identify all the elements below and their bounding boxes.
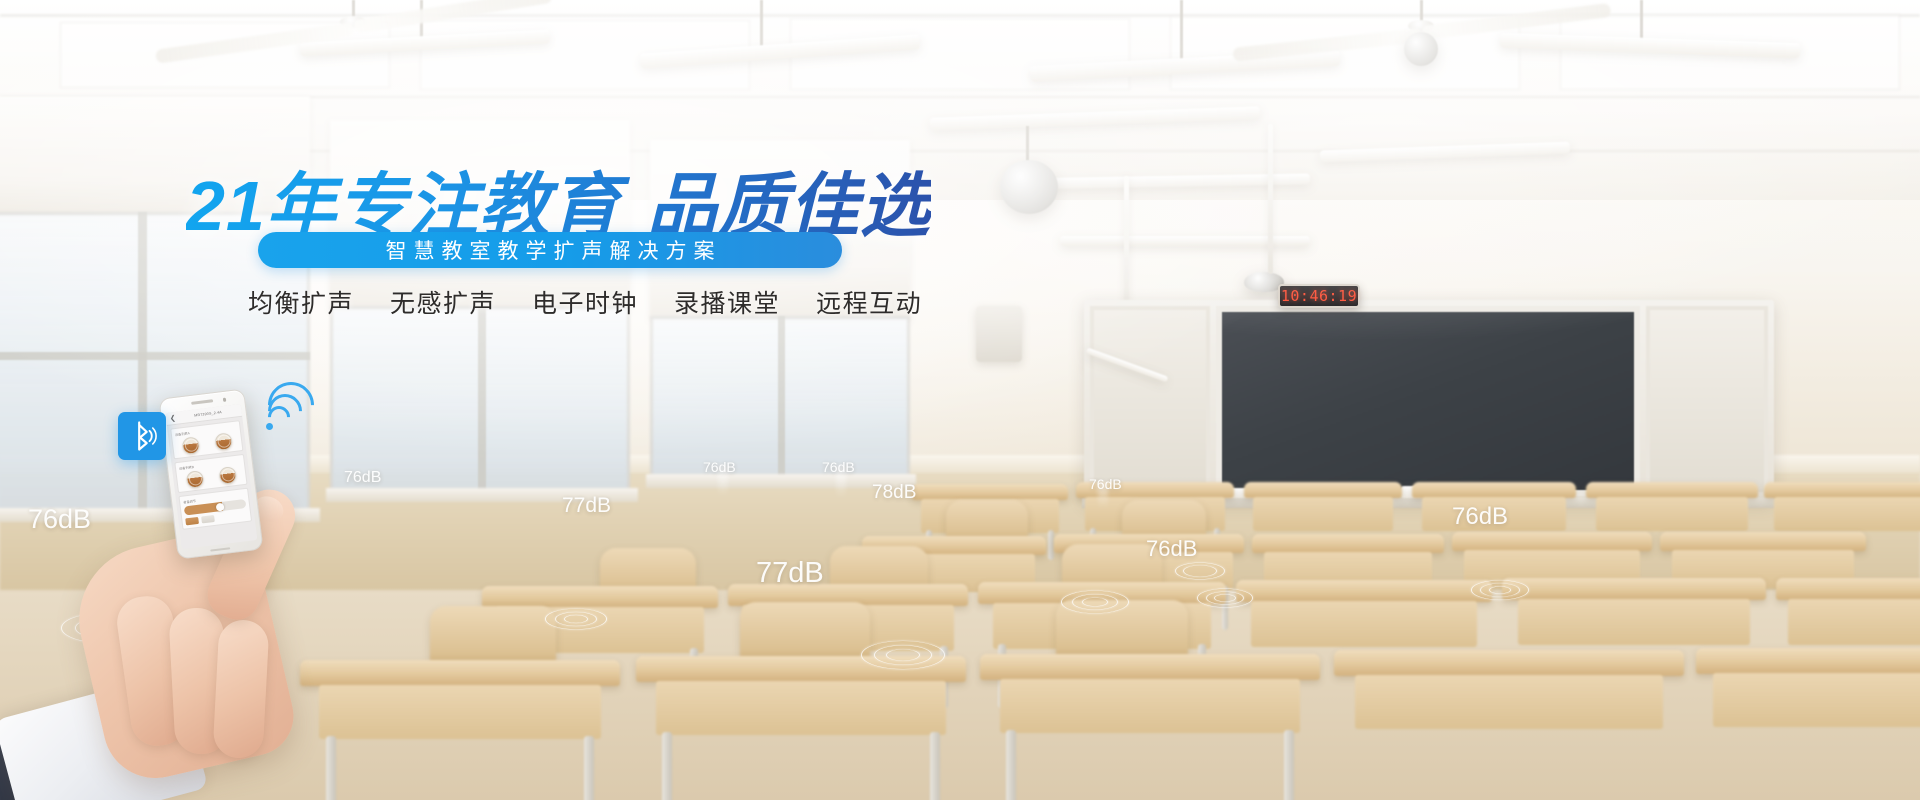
- sound-ripple-icon: [1196, 586, 1254, 610]
- db-label: 76dB: [822, 459, 855, 475]
- action-button-secondary[interactable]: [201, 515, 215, 524]
- feature-item-0: 均衡扩声: [248, 284, 354, 320]
- feature-item-3: 录播课堂: [674, 284, 780, 320]
- speaker-item[interactable]: [212, 465, 243, 485]
- volume-control-card[interactable]: 音量调节: [178, 488, 252, 530]
- speaker-icon: [218, 465, 237, 484]
- sound-ripple-icon: [544, 606, 608, 632]
- speaker-item[interactable]: [175, 435, 206, 455]
- db-label: 77dB: [756, 557, 824, 590]
- speaker-item[interactable]: [180, 469, 211, 489]
- sound-ripple-icon: [860, 638, 946, 672]
- db-label: 76dB: [1089, 476, 1122, 492]
- front-camera: [222, 398, 226, 402]
- action-button-primary[interactable]: [185, 517, 199, 526]
- finger: [212, 619, 269, 759]
- speaker-group-card-a[interactable]: 设备列表A: [170, 420, 243, 459]
- subtitle-pill: 智慧教室教学扩声解决方案: [258, 232, 842, 268]
- smartphone: ❮ MR7390S_2.4A 设备列表A 设备列表B: [158, 388, 263, 559]
- phone-screen: ❮ MR7390S_2.4A 设备列表A 设备列表B: [165, 404, 257, 549]
- app-body: 设备列表A 设备列表B 音量调节: [167, 417, 258, 549]
- home-indicator: [210, 547, 230, 552]
- wireless-signal-icon: [264, 386, 316, 432]
- sound-ripple-icon: [1060, 588, 1130, 616]
- bluetooth-icon: [118, 412, 166, 460]
- feature-item-1: 无感扩声: [390, 284, 496, 320]
- db-label: 76dB: [1146, 536, 1197, 562]
- chevron-left-icon[interactable]: ❮: [170, 414, 177, 422]
- sound-ripple-icon: [1470, 578, 1530, 602]
- db-label: 76dB: [1452, 503, 1508, 531]
- db-label: 77dB: [562, 494, 611, 518]
- speaker-icon: [214, 432, 233, 451]
- speaker-icon: [181, 436, 200, 455]
- speaker-icon: [186, 470, 205, 489]
- db-label: 78dB: [872, 482, 916, 504]
- speaker-item[interactable]: [208, 431, 239, 451]
- db-label: 76dB: [703, 459, 736, 475]
- feature-list: 均衡扩声 无感扩声 电子时钟 录播课堂 远程互动: [248, 284, 922, 320]
- feature-item-4: 远程互动: [816, 284, 922, 320]
- feature-item-2: 电子时钟: [532, 284, 638, 320]
- sound-ripple-icon: [1174, 560, 1226, 582]
- banner-stage: 10:46:19: [0, 0, 1920, 800]
- subtitle-pill-label: 智慧教室教学扩声解决方案: [379, 235, 722, 265]
- speaker-group-card-b[interactable]: 设备列表B: [174, 454, 247, 493]
- earpiece-speaker: [191, 399, 213, 405]
- volume-slider-knob[interactable]: [216, 502, 225, 511]
